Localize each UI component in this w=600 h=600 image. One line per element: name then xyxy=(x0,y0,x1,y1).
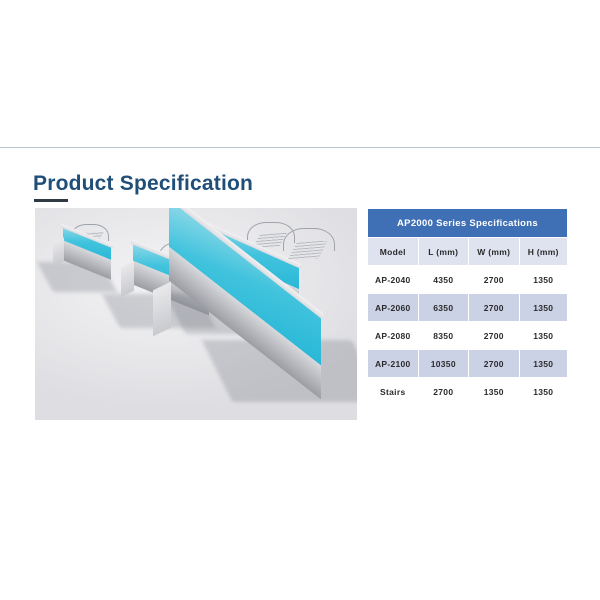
cell-width: 2700 xyxy=(469,350,518,377)
cell-length: 4350 xyxy=(419,266,469,293)
column-header-length: L (mm) xyxy=(419,238,469,265)
pool-render-4-icon xyxy=(231,228,357,413)
spec-table-title: AP2000 Series Specifications xyxy=(368,209,567,237)
pool-wall-end xyxy=(153,282,171,337)
cell-model: AP-2080 xyxy=(368,322,418,349)
cell-model: AP-2060 xyxy=(368,294,418,321)
cell-length: 10350 xyxy=(419,350,469,377)
cell-width: 2700 xyxy=(469,322,518,349)
table-header-row: Model L (mm) W (mm) H (mm) xyxy=(368,238,567,265)
table-row: AP-2060 6350 2700 1350 xyxy=(368,294,567,321)
cell-height: 1350 xyxy=(520,322,568,349)
cell-model: AP-2100 xyxy=(368,350,418,377)
cell-width: 2700 xyxy=(469,294,518,321)
pool-wall-end xyxy=(121,261,134,297)
table-row: AP-2080 8350 2700 1350 xyxy=(368,322,567,349)
table-row: AP-2040 4350 2700 1350 xyxy=(368,266,567,293)
cell-height: 1350 xyxy=(520,350,568,377)
column-header-height: H (mm) xyxy=(520,238,568,265)
column-header-model: Model xyxy=(368,238,418,265)
cell-length: 6350 xyxy=(419,294,469,321)
specification-table: AP2000 Series Specifications Model L (mm… xyxy=(367,208,568,406)
cell-length: 8350 xyxy=(419,322,469,349)
cell-model: AP-2040 xyxy=(368,266,418,293)
table-row: AP-2100 10350 2700 1350 xyxy=(368,350,567,377)
title-underline-accent xyxy=(34,199,68,202)
cell-height: 1350 xyxy=(520,378,568,405)
cell-width: 1350 xyxy=(469,378,518,405)
cell-length: 2700 xyxy=(419,378,469,405)
cell-height: 1350 xyxy=(520,266,568,293)
page-title: Product Specification xyxy=(33,172,253,196)
top-divider xyxy=(0,147,600,148)
cell-height: 1350 xyxy=(520,294,568,321)
cell-width: 2700 xyxy=(469,266,518,293)
column-header-width: W (mm) xyxy=(469,238,518,265)
table-row: Stairs 2700 1350 1350 xyxy=(368,378,567,405)
table-title-row: AP2000 Series Specifications xyxy=(368,209,567,237)
cell-model: Stairs xyxy=(368,378,418,405)
product-image-panel xyxy=(35,208,357,420)
